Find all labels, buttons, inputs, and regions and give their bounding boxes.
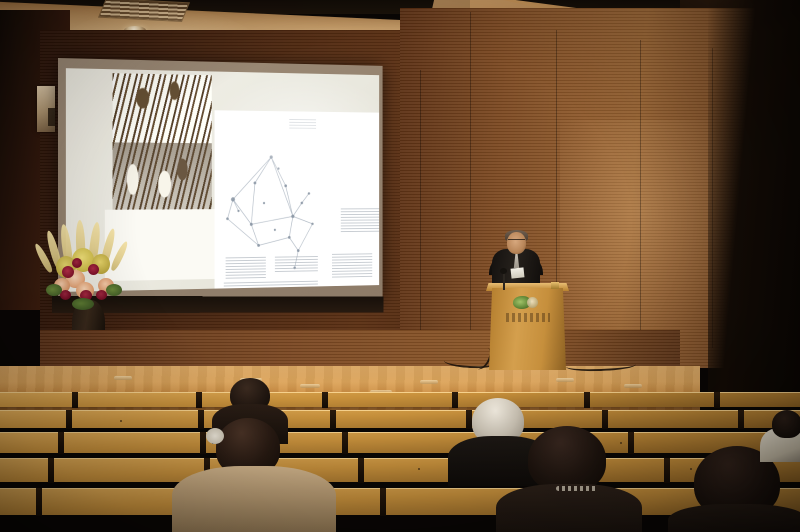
podium-nameplate — [506, 313, 550, 322]
seat-divider — [602, 410, 608, 429]
slide-annotation-text — [341, 208, 379, 233]
auditorium-seat[interactable] — [0, 410, 800, 428]
seat-divider — [36, 488, 42, 516]
seat-fitting — [418, 468, 420, 470]
seat-divider — [584, 392, 590, 408]
presentation-notes — [511, 267, 525, 278]
seat-fitting — [620, 442, 622, 444]
seat-divider — [342, 432, 348, 454]
seat-divider — [714, 392, 720, 408]
seat-divider — [58, 432, 64, 454]
auditorium-seat[interactable] — [0, 432, 800, 453]
podium-object — [551, 282, 559, 289]
seat-divider — [452, 392, 458, 408]
auditorium-seat[interactable] — [0, 392, 800, 407]
seat-divider — [664, 458, 670, 483]
seat-divider — [358, 458, 364, 483]
seat-fitting — [690, 468, 692, 470]
microphone-stem — [503, 272, 505, 290]
seat-divider — [628, 432, 634, 454]
institution-emblem-icon — [527, 297, 538, 308]
eyeglasses-icon — [508, 239, 525, 244]
seat-divider — [72, 392, 78, 408]
wall-panel-marking — [48, 108, 55, 126]
seat-divider — [198, 410, 204, 429]
seat-divider — [196, 392, 202, 408]
audience-shoulders — [496, 484, 642, 532]
microphone-icon — [500, 268, 507, 274]
seat-divider — [380, 488, 386, 516]
seat-fitting — [120, 420, 122, 422]
wall-seam — [640, 40, 641, 360]
slide-caption-text — [332, 253, 372, 278]
stage-curtain — [708, 0, 800, 400]
necklace-icon — [556, 486, 598, 491]
floral-arrangement — [38, 228, 142, 312]
seat-divider — [322, 392, 328, 408]
slide-photograph-figures — [113, 142, 212, 209]
seat-divider — [66, 410, 72, 429]
audience-shoulders — [668, 504, 800, 532]
audience-collar — [206, 428, 224, 444]
wall-seam — [420, 70, 421, 360]
seat-divider — [330, 410, 336, 429]
audience-head — [528, 426, 606, 492]
seat-divider — [48, 458, 54, 483]
slide-footer-text — [224, 281, 318, 292]
slide-title-text — [289, 119, 316, 131]
slide-caption-text — [226, 257, 266, 279]
audience-head — [772, 410, 800, 438]
wall-seam — [470, 12, 471, 362]
audience-shoulders — [172, 466, 336, 532]
seat-divider — [738, 410, 744, 429]
auditorium-seat[interactable] — [0, 458, 800, 482]
slide-caption-text — [275, 256, 318, 272]
auditorium-scene — [0, 0, 800, 532]
